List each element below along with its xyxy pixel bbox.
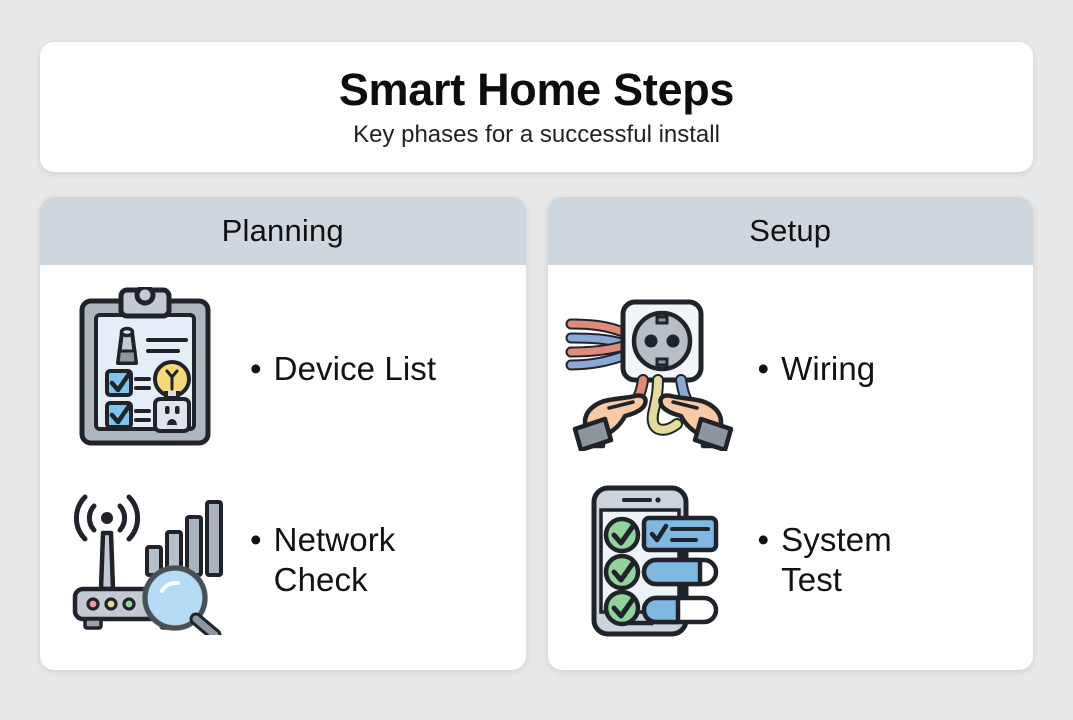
- list-item-text: Network Check: [274, 520, 454, 601]
- bullet-icon: •: [250, 349, 262, 389]
- column-title-setup: Setup: [749, 213, 831, 249]
- bullet-icon: •: [250, 520, 262, 560]
- phone-checklist-progress-icon: [548, 480, 758, 640]
- columns-container: Planning: [40, 197, 1033, 670]
- list-item-label-wiring: • Wiring: [758, 349, 888, 389]
- list-item-text: Wiring: [781, 349, 875, 389]
- column-body-planning: • Device List: [40, 265, 526, 670]
- bullet-icon: •: [758, 349, 770, 389]
- list-item: • Network Check: [40, 473, 526, 648]
- list-item-text: System Test: [781, 520, 941, 601]
- hands-wiring-socket-icon: [548, 286, 758, 451]
- infographic-page: Smart Home Steps Key phases for a succes…: [0, 0, 1073, 720]
- column-body-setup: • Wiring: [548, 265, 1034, 670]
- page-title: Smart Home Steps: [339, 66, 734, 113]
- column-setup: Setup: [548, 197, 1034, 670]
- clipboard-device-list-icon: [40, 287, 250, 450]
- bullet-icon: •: [758, 520, 770, 560]
- page-subtitle: Key phases for a successful install: [353, 122, 720, 148]
- list-item-label-network-check: • Network Check: [250, 520, 466, 601]
- list-item-text: Device List: [274, 349, 437, 389]
- column-planning: Planning: [40, 197, 526, 670]
- column-header-planning: Planning: [40, 197, 526, 265]
- router-signal-magnifier-icon: [40, 485, 250, 635]
- list-item: • Device List: [40, 281, 526, 456]
- column-header-setup: Setup: [548, 197, 1034, 265]
- list-item-label-device-list: • Device List: [250, 349, 448, 389]
- list-item: • Wiring: [548, 281, 1034, 456]
- column-title-planning: Planning: [222, 213, 344, 249]
- list-item-label-system-test: • System Test: [758, 520, 954, 601]
- header-card: Smart Home Steps Key phases for a succes…: [40, 42, 1033, 172]
- list-item: • System Test: [548, 473, 1034, 648]
